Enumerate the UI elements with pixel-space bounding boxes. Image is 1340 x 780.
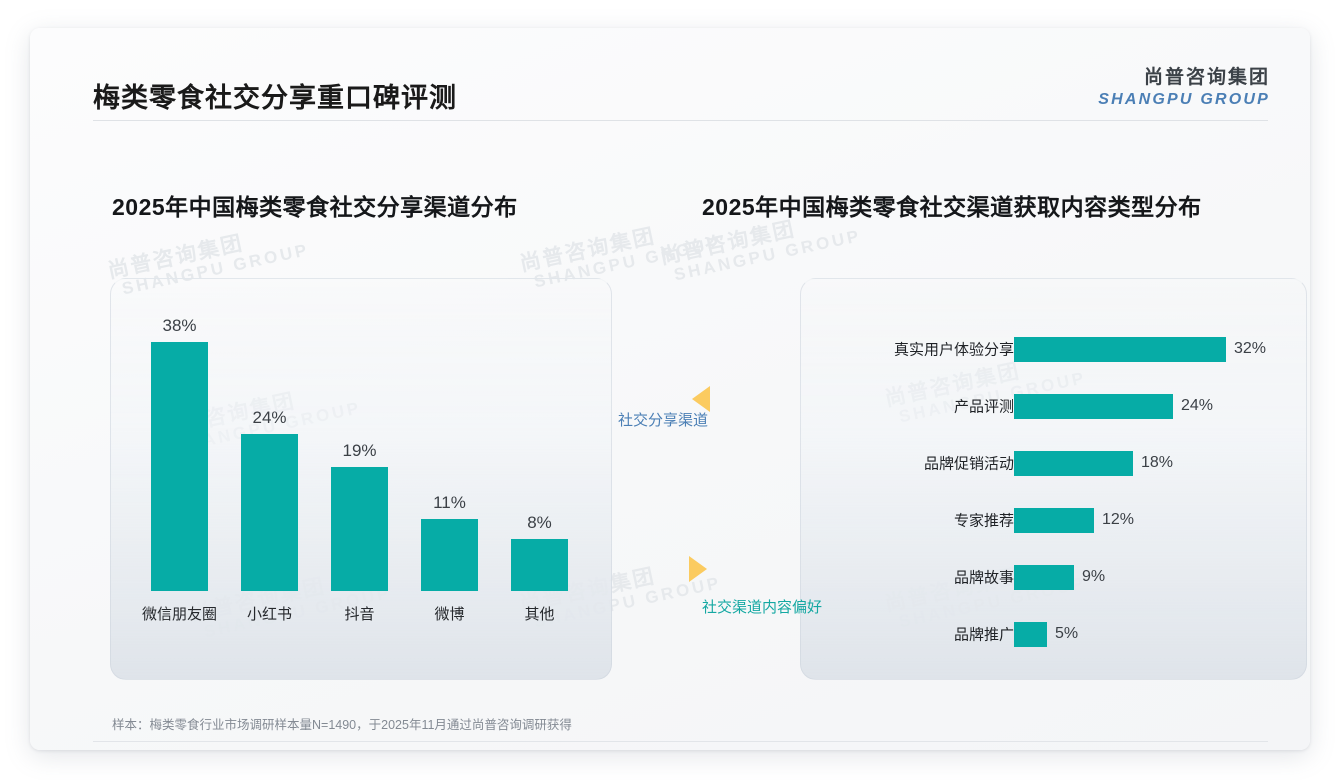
bar-category-label: 品牌故事: [954, 567, 1014, 588]
bar-row[interactable]: 真实用户体验分享32%: [801, 334, 1306, 364]
column-value-label: 11%: [433, 493, 466, 513]
bar-category-label: 专家推荐: [954, 510, 1014, 531]
bar-fill[interactable]: [1014, 337, 1226, 362]
bar-value-label: 18%: [1141, 454, 1173, 472]
bar-row[interactable]: 品牌故事9%: [801, 562, 1306, 592]
sample-footnote: 样本：梅类零食行业市场调研样本量N=1490，于2025年11月通过尚普咨询调研…: [112, 714, 572, 733]
triangle-right-icon: [689, 556, 707, 582]
column-item[interactable]: 19%抖音: [331, 467, 388, 591]
slide-canvas: 梅类零食社交分享重口碑评测 尚普咨询集团 SHANGPU GROUP 2025年…: [30, 28, 1310, 750]
column-item[interactable]: 24%小红书: [241, 434, 298, 591]
bar-fill[interactable]: [1014, 451, 1133, 476]
bar-fill[interactable]: [1014, 394, 1173, 419]
brand-name-en: SHANGPU GROUP: [1098, 90, 1270, 109]
left-chart-panel: 38%微信朋友圈24%小红书19%抖音11%微博8%其他: [110, 278, 612, 680]
footer-divider: [93, 741, 1268, 742]
bar-row[interactable]: 品牌促销活动18%: [801, 448, 1306, 478]
bar-row[interactable]: 品牌推广5%: [801, 619, 1306, 649]
column-value-label: 38%: [162, 316, 196, 336]
column-bar[interactable]: [511, 539, 568, 591]
column-category-label: 小红书: [247, 603, 292, 624]
horizontal-bar-chart: 真实用户体验分享32%产品评测24%品牌促销活动18%专家推荐12%品牌故事9%…: [801, 279, 1306, 679]
column-value-label: 19%: [342, 441, 376, 461]
column-bar[interactable]: [241, 434, 298, 591]
bar-fill[interactable]: [1014, 622, 1047, 647]
column-category-label: 微博: [434, 603, 464, 624]
annotation-content-preference: 社交渠道内容偏好: [702, 596, 822, 617]
column-category-label: 其他: [524, 603, 554, 624]
right-chart-panel: 真实用户体验分享32%产品评测24%品牌促销活动18%专家推荐12%品牌故事9%…: [800, 278, 1307, 680]
bar-value-label: 12%: [1102, 511, 1134, 529]
bar-category-label: 真实用户体验分享: [894, 339, 1014, 360]
bar-fill[interactable]: [1014, 508, 1094, 533]
right-chart-title: 2025年中国梅类零食社交渠道获取内容类型分布: [702, 188, 1202, 222]
column-value-label: 8%: [527, 513, 552, 533]
column-item[interactable]: 11%微博: [421, 519, 478, 591]
column-category-label: 微信朋友圈: [142, 603, 217, 624]
watermark-cn: 尚普咨询集团: [106, 220, 307, 283]
bar-value-label: 9%: [1082, 568, 1105, 586]
column-chart: 38%微信朋友圈24%小红书19%抖音11%微博8%其他: [111, 279, 611, 679]
brand-name-cn: 尚普咨询集团: [1098, 66, 1270, 90]
left-chart-title: 2025年中国梅类零食社交分享渠道分布: [112, 188, 518, 222]
bar-fill[interactable]: [1014, 565, 1074, 590]
annotation-social-share-channel: 社交分享渠道: [618, 409, 708, 430]
column-value-label: 24%: [252, 408, 286, 428]
column-bar[interactable]: [331, 467, 388, 591]
bar-value-label: 5%: [1055, 625, 1078, 643]
bar-category-label: 品牌促销活动: [924, 453, 1014, 474]
watermark-cn: 尚普咨询集团: [518, 213, 719, 276]
column-item[interactable]: 38%微信朋友圈: [151, 342, 208, 591]
column-category-label: 抖音: [344, 603, 374, 624]
header-divider: [93, 120, 1268, 121]
bar-value-label: 24%: [1181, 397, 1213, 415]
bar-row[interactable]: 专家推荐12%: [801, 505, 1306, 535]
column-item[interactable]: 8%其他: [511, 539, 568, 591]
bar-row[interactable]: 产品评测24%: [801, 391, 1306, 421]
bar-category-label: 品牌推广: [954, 624, 1014, 645]
brand-logo: 尚普咨询集团 SHANGPU GROUP: [1098, 66, 1270, 109]
slide-header: 梅类零食社交分享重口碑评测 尚普咨询集团 SHANGPU GROUP: [30, 28, 1310, 120]
bar-category-label: 产品评测: [954, 396, 1014, 417]
column-bar[interactable]: [151, 342, 208, 591]
bar-value-label: 32%: [1234, 340, 1266, 358]
column-bar[interactable]: [421, 519, 478, 591]
page-title: 梅类零食社交分享重口碑评测: [93, 76, 457, 115]
